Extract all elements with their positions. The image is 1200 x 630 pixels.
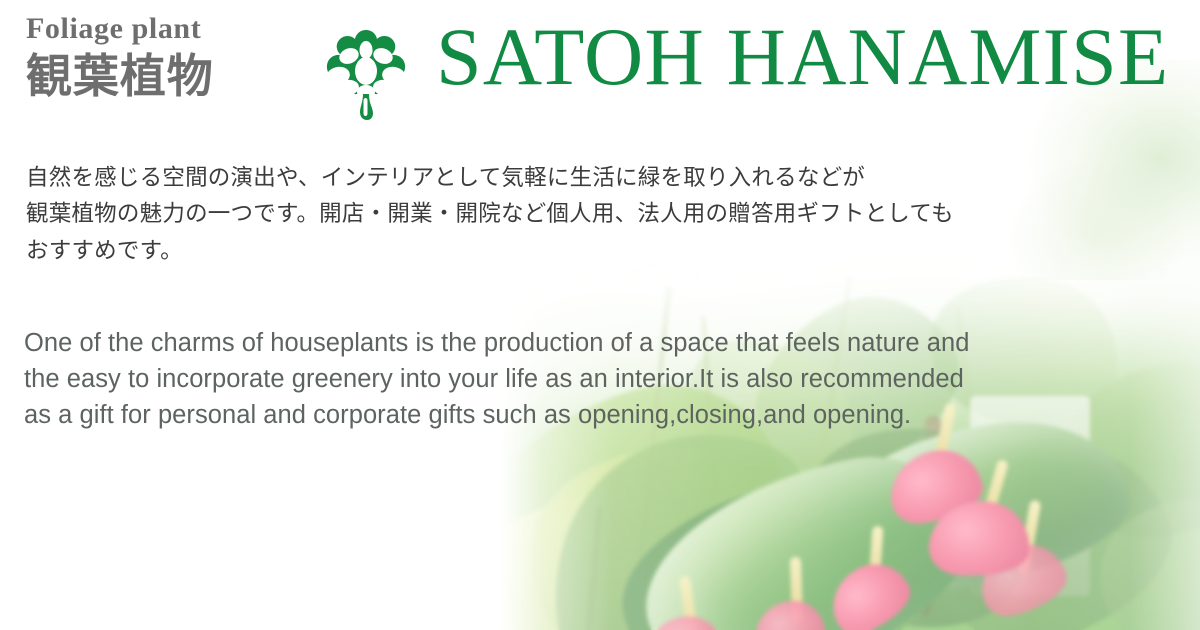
- description-en-line-2: the easy to incorporate greenery into yo…: [24, 361, 1189, 397]
- page-title: SATOH HANAMISE: [436, 16, 1169, 98]
- description-ja-line-1: 自然を感じる空間の演出や、インテリアとして気軽に生活に緑を取り入れるなどが: [26, 160, 1176, 196]
- description-en-line-3: as a gift for personal and corporate gif…: [24, 397, 1189, 433]
- eyebrow-japanese: 観葉植物: [26, 52, 214, 102]
- brand-eyebrow: Foliage plant 観葉植物: [26, 14, 214, 102]
- page-header: Foliage plant 観葉植物: [0, 0, 1200, 135]
- description-japanese: 自然を感じる空間の演出や、インテリアとして気軽に生活に緑を取り入れるなどが 観葉…: [26, 160, 1176, 269]
- page-content: Foliage plant 観葉植物: [0, 0, 1200, 630]
- description-ja-line-3: おすすめです。: [26, 233, 1176, 269]
- flower-plant-logo-icon: [316, 26, 416, 121]
- page-root: Foliage plant 観葉植物: [0, 0, 1200, 630]
- description-en-line-1: One of the charms of houseplants is the …: [24, 325, 1189, 361]
- description-ja-line-2: 観葉植物の魅力の一つです。開店・開業・開院など個人用、法人用の贈答用ギフトとして…: [26, 196, 1176, 232]
- description-english: One of the charms of houseplants is the …: [24, 325, 1189, 434]
- eyebrow-english: Foliage plant: [26, 14, 214, 44]
